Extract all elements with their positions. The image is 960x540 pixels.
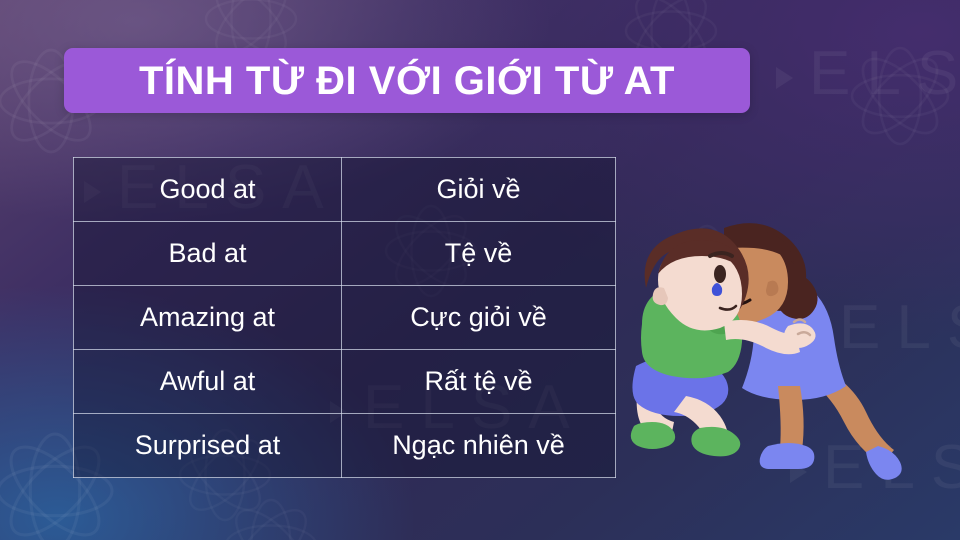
table-cell-english: Surprised at: [74, 414, 342, 478]
vocabulary-table: Good at Giỏi về Bad at Tệ về Amazing at …: [73, 157, 616, 478]
table-cell-vietnamese: Cực giỏi về: [342, 286, 616, 350]
table-cell-english: Bad at: [74, 222, 342, 286]
table-cell-vietnamese: Ngạc nhiên về: [342, 414, 616, 478]
two-children-helping-illustration: [628, 218, 950, 488]
rosette-motif-icon: [820, 16, 960, 176]
title-banner: TÍNH TỪ ĐI VỚI GIỚI TỪ AT: [64, 48, 750, 113]
play-triangle-icon: [776, 67, 793, 89]
slide-canvas: ELSA ELSA ELSA ELSA ELSA TÍNH TỪ ĐI VỚI …: [0, 0, 960, 540]
page-title: TÍNH TỪ ĐI VỚI GIỚI TỪ AT: [139, 61, 675, 101]
table-row: Awful at Rất tệ về: [74, 350, 616, 414]
table-cell-vietnamese: Tệ về: [342, 222, 616, 286]
rosette-motif-icon: [196, 470, 346, 540]
table-row: Bad at Tệ về: [74, 222, 616, 286]
table-cell-english: Awful at: [74, 350, 342, 414]
table-row: Surprised at Ngạc nhiên về: [74, 414, 616, 478]
table-row: Good at Giỏi về: [74, 158, 616, 222]
elsa-watermark: ELSA: [776, 38, 960, 109]
table-cell-english: Amazing at: [74, 286, 342, 350]
elsa-watermark-text: ELSA: [809, 39, 960, 108]
table-cell-english: Good at: [74, 158, 342, 222]
table-cell-vietnamese: Giỏi về: [342, 158, 616, 222]
table-row: Amazing at Cực giỏi về: [74, 286, 616, 350]
table-cell-vietnamese: Rất tệ về: [342, 350, 616, 414]
